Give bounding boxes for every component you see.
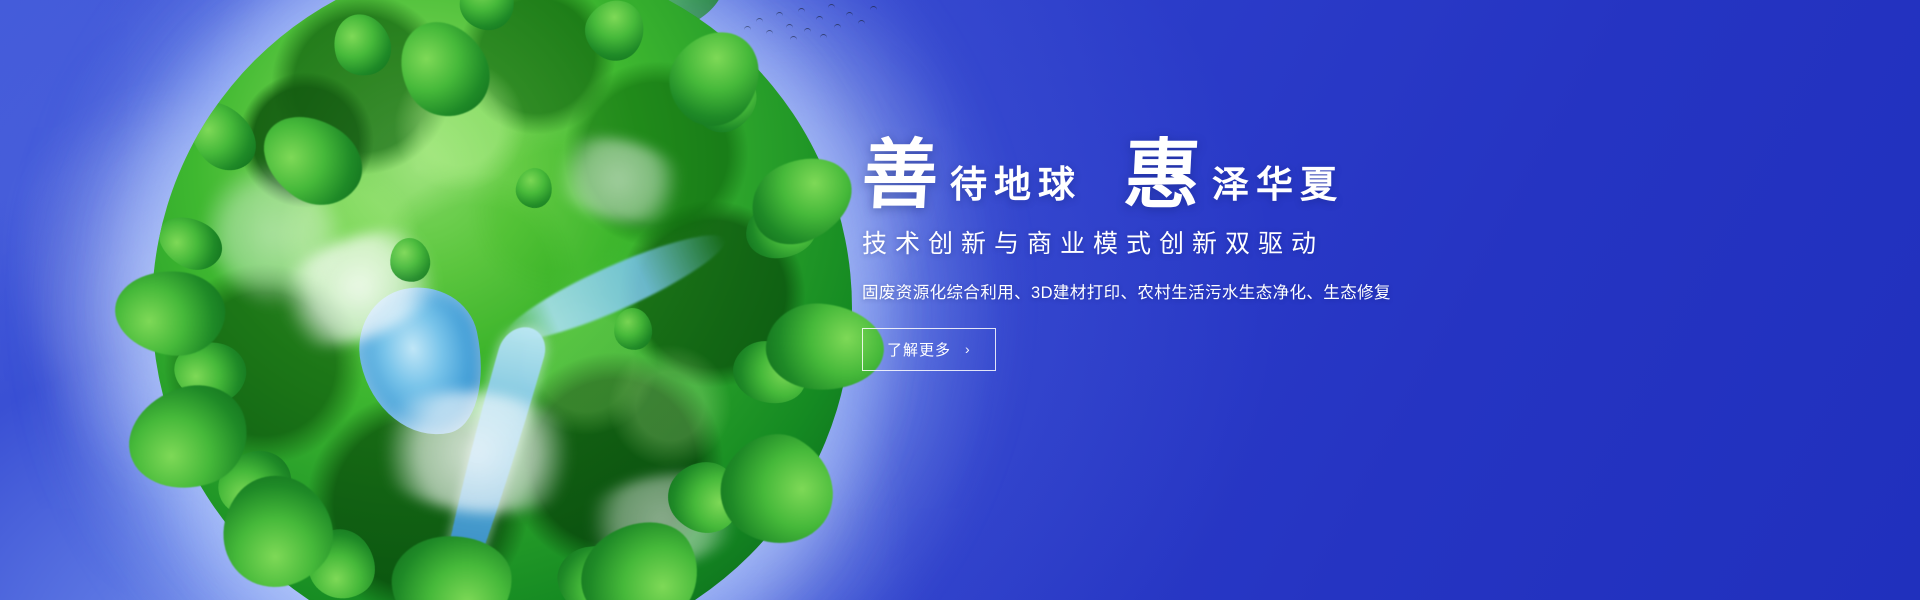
bird-flock-icon xyxy=(742,0,882,48)
page-title: 善 待地球 惠 泽华夏 xyxy=(862,120,1582,212)
cloud-halo-inner xyxy=(40,0,960,600)
headline-rest-chars: 泽华夏 xyxy=(1212,154,1344,208)
hero-description: 固废资源化综合利用、3D建材打印、农村生活污水生态净化、生态修复 xyxy=(862,280,1582,306)
surface-cloud xyxy=(566,461,759,581)
hero-banner: 善 待地球 惠 泽华夏 技术创新与商业模式创新双驱动 固废资源化综合利用、3D建… xyxy=(0,0,1920,600)
headline-phrase-two: 惠 泽华夏 xyxy=(1124,140,1344,212)
balloon-rope xyxy=(407,50,409,62)
headline-phrase-one: 善 待地球 xyxy=(862,140,1082,212)
tiny-planet-artwork xyxy=(152,0,852,600)
headline-rest-chars: 待地球 xyxy=(950,154,1082,208)
surface-cloud xyxy=(174,131,371,336)
headline-lead-char: 善 xyxy=(860,140,940,212)
hot-air-balloon-icon xyxy=(384,0,436,78)
balloon-stripe xyxy=(404,0,412,50)
hero-content: 善 待地球 惠 泽华夏 技术创新与商业模式创新双驱动 固废资源化综合利用、3D建… xyxy=(862,120,1582,371)
globe-terrain xyxy=(152,0,852,600)
cloud-wisp xyxy=(153,0,626,280)
globe-sphere xyxy=(152,0,852,600)
surface-cloud xyxy=(252,206,466,370)
cloud-wisp xyxy=(104,349,596,600)
river-branch xyxy=(496,219,733,357)
lake-icon xyxy=(348,276,497,448)
tree-canopy xyxy=(524,0,724,42)
river-icon xyxy=(415,324,552,600)
surface-cloud xyxy=(537,123,702,237)
cloud-wisp xyxy=(0,3,419,577)
chevron-right-icon: › xyxy=(965,342,971,356)
surface-cloud xyxy=(356,380,597,523)
globe-highlights xyxy=(152,0,852,600)
cloud-wisp xyxy=(537,358,964,600)
learn-more-label: 了解更多 xyxy=(887,339,951,360)
balloon-basket xyxy=(402,61,415,71)
tree-trunk xyxy=(614,2,628,80)
hero-subtitle: 技术创新与商业模式创新双驱动 xyxy=(862,226,1582,264)
learn-more-button[interactable]: 了解更多 › xyxy=(862,328,996,371)
balloon-envelope xyxy=(384,0,432,52)
headline-lead-char: 惠 xyxy=(1122,140,1202,212)
